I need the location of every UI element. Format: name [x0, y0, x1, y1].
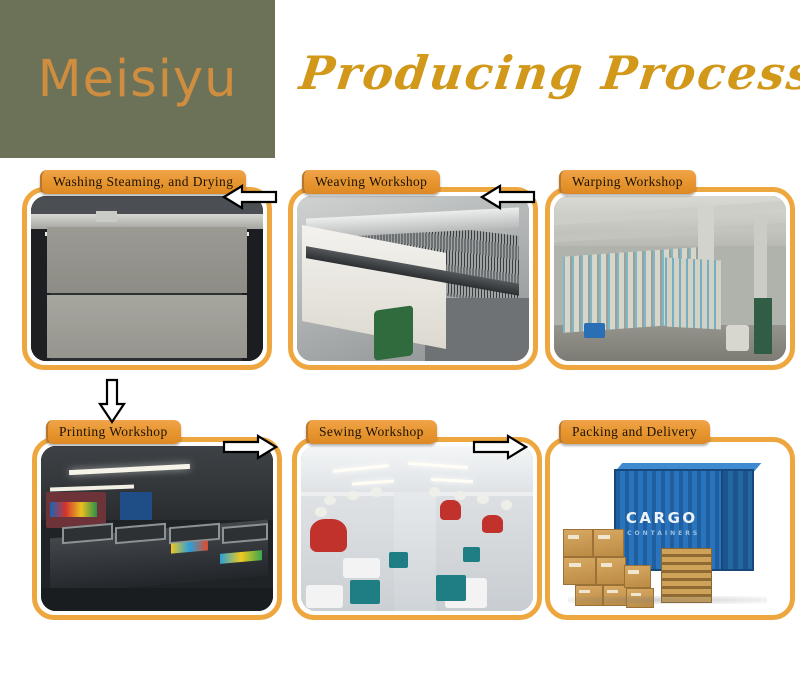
step-photo-inner-packing: CARGO CONTAINERS [554, 446, 786, 611]
fabric-drying-machine-photo [31, 196, 263, 361]
arrow-left-icon [480, 182, 536, 212]
step-label-sewing-workshop: Sewing Workshop [306, 420, 437, 444]
step-label-warping-workshop: Warping Workshop [559, 170, 696, 194]
step-photo-inner-printing [41, 446, 273, 611]
arrow-left-icon [222, 182, 278, 212]
arrow-right-icon [222, 432, 278, 462]
step-photo-frame-weaving-workshop [288, 187, 538, 370]
producing-process-infographic: Meisiyu Producing Process Washing Steami… [0, 0, 800, 673]
step-photo-frame-washing-steaming-drying [22, 187, 272, 370]
step-label-weaving-workshop: Weaving Workshop [302, 170, 440, 194]
step-packing-and-delivery[interactable]: Packing and Delivery CARGO CONTAINERS [545, 420, 795, 660]
process-row-2: Printing Workshop [0, 420, 800, 660]
process-row-1: Washing Steaming, and Drying Weaving Wor… [0, 170, 800, 410]
arrow-washing-to-printing [97, 378, 127, 424]
step-photo-frame-printing-workshop [32, 437, 282, 620]
step-photo-inner-weaving [297, 196, 529, 361]
step-photo-frame-packing-and-delivery: CARGO CONTAINERS [545, 437, 795, 620]
cargo-container-title: CARGO [626, 509, 698, 527]
arrow-warping-to-weaving [480, 182, 536, 212]
step-label-washing-steaming-drying: Washing Steaming, and Drying [40, 170, 246, 194]
arrow-right-icon [472, 432, 528, 462]
step-photo-frame-sewing-workshop [292, 437, 542, 620]
step-label-packing-and-delivery: Packing and Delivery [559, 420, 710, 444]
step-photo-inner-sewing [301, 446, 533, 611]
arrow-weaving-to-washing [222, 182, 278, 212]
arrow-down-icon [97, 378, 127, 424]
step-warping-workshop[interactable]: Warping Workshop [545, 170, 795, 410]
step-photo-frame-warping-workshop [545, 187, 795, 370]
arrow-printing-to-sewing [222, 432, 278, 462]
brand-name: Meisiyu [38, 54, 238, 105]
step-photo-inner-warping [554, 196, 786, 361]
screen-printing-tables-photo [41, 446, 273, 611]
step-photo-inner-washing [31, 196, 263, 361]
brand-box: Meisiyu [0, 0, 275, 158]
weaving-loom-photo [297, 196, 529, 361]
arrow-sewing-to-packing [472, 432, 528, 462]
cargo-container-boxes-photo: CARGO CONTAINERS [554, 446, 786, 611]
warping-creel-racks-photo [554, 196, 786, 361]
page-title: Producing Process [297, 46, 734, 100]
sewing-floor-workers-photo [301, 446, 533, 611]
cargo-container-subtitle: CONTAINERS [627, 530, 700, 537]
